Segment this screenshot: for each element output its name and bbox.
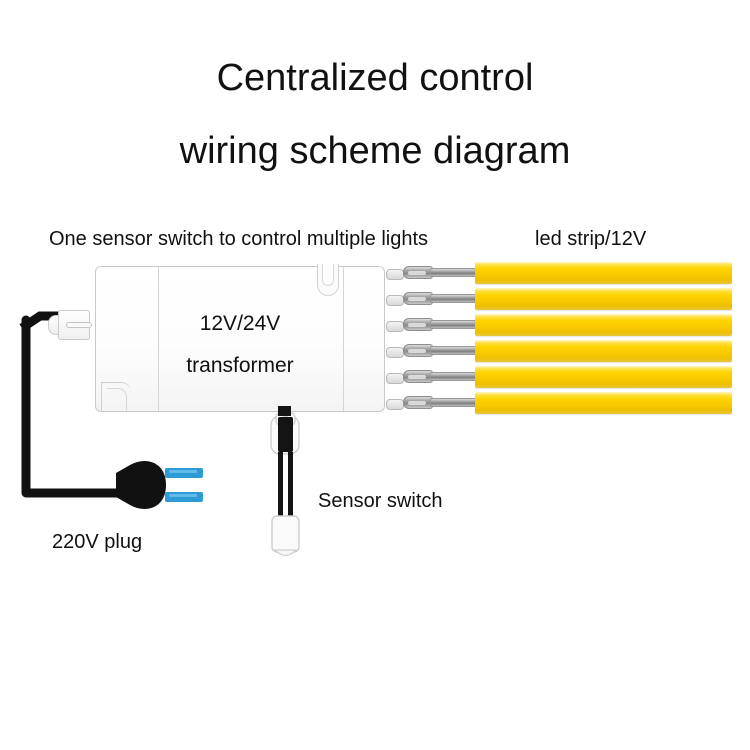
transformer-terminal-4 <box>386 347 404 358</box>
led-connector-3 <box>403 318 479 331</box>
led-connector-2 <box>403 292 479 305</box>
led-strip-3 <box>475 314 732 336</box>
sensor-to-transformer-link <box>272 406 298 422</box>
connector-ferrule-icon <box>403 292 433 305</box>
transformer-terminal-3 <box>386 321 404 332</box>
socket-pin <box>66 322 92 328</box>
transformer-name-label: transformer <box>95 354 385 378</box>
connector-ferrule-icon <box>403 396 433 409</box>
page-title-line-1: Centralized control <box>0 57 750 100</box>
wiring-diagram-canvas: Centralized control wiring scheme diagra… <box>0 0 750 750</box>
led-connector-1 <box>403 266 479 279</box>
transformer-mount-tab-bottom-inner <box>107 388 127 412</box>
led-strip-2 <box>475 288 732 310</box>
transformer-unit: 12V/24V transformer <box>95 266 385 412</box>
connector-ferrule-icon <box>403 370 433 383</box>
power-plug-icon <box>112 455 222 515</box>
led-strip-4 <box>475 340 732 362</box>
label-led-strip: led strip/12V <box>535 228 646 251</box>
connector-ferrule-icon <box>403 318 433 331</box>
led-strip-5 <box>475 366 732 388</box>
led-connector-6 <box>403 396 479 409</box>
transformer-terminal-6 <box>386 399 404 410</box>
transformer-input-socket <box>48 310 90 340</box>
led-connector-5 <box>403 370 479 383</box>
connector-ferrule-icon <box>403 344 433 357</box>
page-title-line-2: wiring scheme diagram <box>0 130 750 173</box>
sensor-probe-icon <box>258 412 312 562</box>
transformer-seam-right <box>343 267 344 411</box>
led-strip-6 <box>475 392 732 414</box>
transformer-terminal-1 <box>386 269 404 280</box>
transformer-terminal-5 <box>386 373 404 384</box>
transformer-voltage-label: 12V/24V <box>95 312 385 336</box>
transformer-seam-left <box>158 267 159 411</box>
connector-ferrule-icon <box>403 266 433 279</box>
label-sensor-switch: Sensor switch <box>318 490 443 513</box>
led-connector-4 <box>403 344 479 357</box>
transformer-mount-tab-top-inner <box>322 264 334 286</box>
transformer-body <box>95 266 385 412</box>
transformer-terminal-2 <box>386 295 404 306</box>
label-one-sensor-multiple-lights: One sensor switch to control multiple li… <box>49 228 428 251</box>
led-strip-1 <box>475 262 732 284</box>
